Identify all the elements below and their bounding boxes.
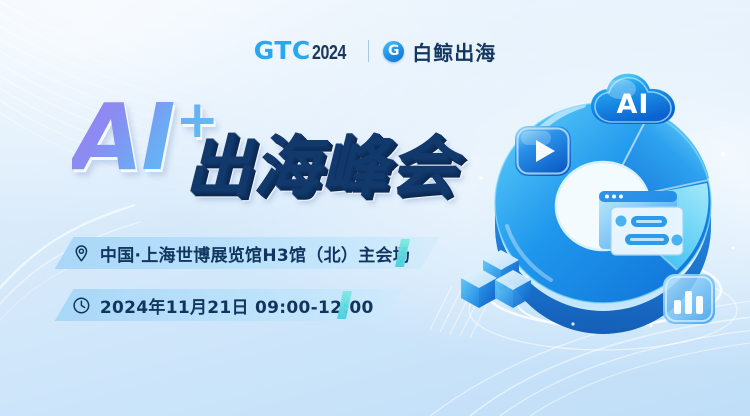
gtc-wordmark: GTC xyxy=(254,38,311,63)
play-button-icon xyxy=(515,126,571,176)
page-title: 出海峰会 xyxy=(185,134,457,200)
event-banner: GTC 2024 G 白鲸出海 AI+ 出海峰会 中国·上海世博展览馆H3馆（北… xyxy=(0,0,750,416)
ai-cloud-label: AI xyxy=(617,89,650,120)
clock-icon xyxy=(72,296,91,315)
bar-chart-icon xyxy=(663,274,715,324)
whale-g-icon: G xyxy=(383,41,404,62)
brand-mark-letter: G xyxy=(388,44,400,58)
hero-illustration: AI xyxy=(455,58,750,358)
location-pill: 中国·上海世博展览馆H3馆（北）主会场 xyxy=(55,237,440,269)
location-text: 中国·上海世博展览馆H3馆（北）主会场 xyxy=(100,241,410,266)
time-text: 2024年11月21日 09:00-12:00 xyxy=(100,293,374,318)
gtc-logo: GTC 2024 xyxy=(254,38,354,65)
logo-divider xyxy=(368,40,369,62)
gtc-year: 2024 xyxy=(312,42,346,65)
ai-text: AI xyxy=(72,84,173,191)
location-pin-icon xyxy=(72,244,91,263)
chat-window-icon xyxy=(599,191,683,255)
ai-cloud-badge: AI xyxy=(591,74,675,124)
